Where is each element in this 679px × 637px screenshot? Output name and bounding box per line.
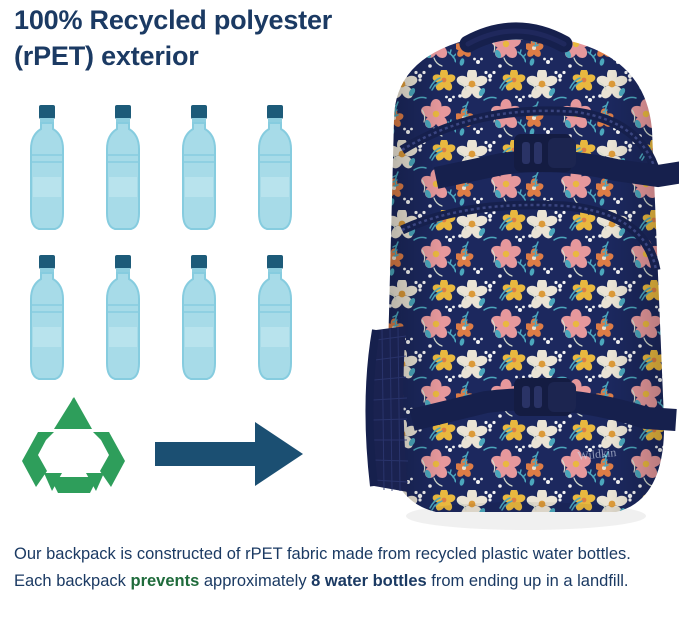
water-bottle-icon <box>18 105 76 233</box>
water-bottle-icon <box>246 105 304 233</box>
water-bottle-icon <box>94 255 152 383</box>
water-bottle-grid <box>18 105 338 390</box>
caption-part-3: from ending up in a landfill. <box>427 572 629 590</box>
recycle-symbol-icon <box>14 395 134 505</box>
caption-part-2: approximately <box>199 572 311 590</box>
product-infographic: 100% Recycled polyester (rPET) exterior <box>0 0 679 637</box>
water-bottle-icon <box>94 105 152 233</box>
caption-highlight-bottles: 8 water bottles <box>311 572 427 590</box>
right-arrow-icon <box>155 418 305 490</box>
floral-navy-backpack-photo: Wildkin <box>316 0 679 533</box>
water-bottle-icon <box>170 105 228 233</box>
caption-highlight-prevents: prevents <box>130 572 199 590</box>
water-bottle-icon <box>246 255 304 383</box>
water-bottle-icon <box>18 255 76 383</box>
caption-text: Our backpack is constructed of rPET fabr… <box>14 541 666 594</box>
water-bottle-icon <box>170 255 228 383</box>
